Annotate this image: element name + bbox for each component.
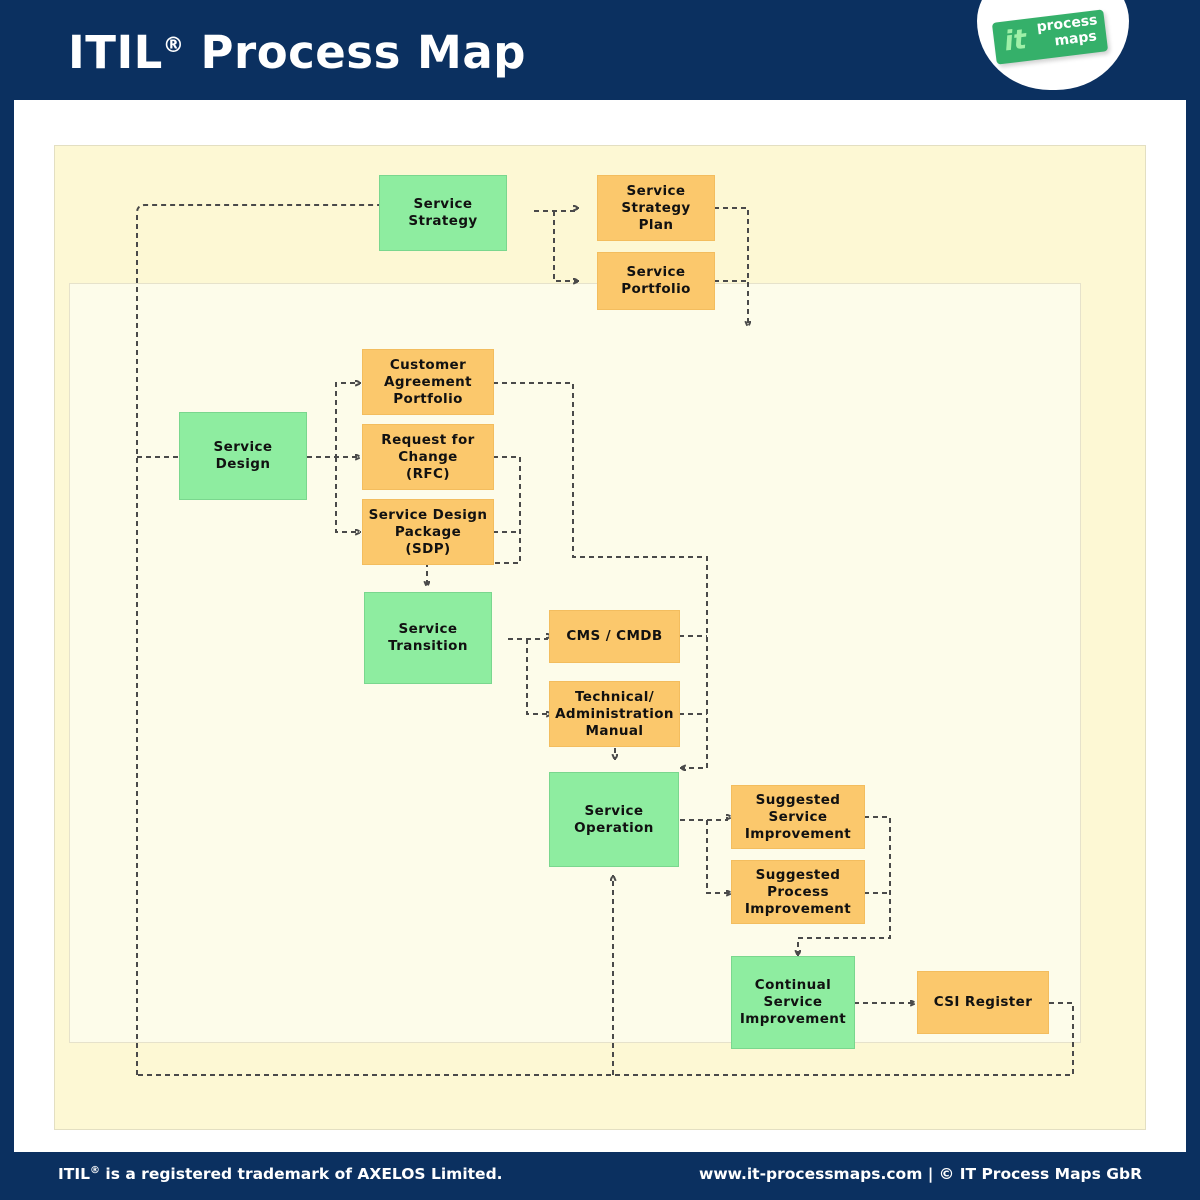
logo-maps-text: maps bbox=[1054, 29, 1098, 49]
registered-trademark-icon: ® bbox=[163, 33, 185, 57]
node-label: ServiceDesign bbox=[214, 439, 273, 473]
service-lifecycle-inner-panel bbox=[69, 283, 1081, 1043]
footer-credit: www.it-processmaps.com | © IT Process Ma… bbox=[699, 1165, 1142, 1183]
page-title-text: ITIL bbox=[68, 26, 163, 79]
node-label: ServiceOperation bbox=[574, 803, 654, 837]
node-continual-service-improvement[interactable]: ContinualServiceImprovement bbox=[731, 956, 855, 1049]
node-label: Service DesignPackage(SDP) bbox=[369, 507, 488, 558]
node-label: CMS / CMDB bbox=[566, 628, 662, 645]
node-csi-register[interactable]: CSI Register bbox=[917, 971, 1049, 1034]
node-label: Request forChange(RFC) bbox=[381, 432, 474, 483]
page-title-rest: Process Map bbox=[184, 26, 526, 79]
page-title: ITIL® Process Map bbox=[68, 26, 526, 79]
node-service-strategy[interactable]: ServiceStrategy bbox=[379, 175, 507, 251]
node-service-strategy-plan[interactable]: ServiceStrategyPlan bbox=[597, 175, 715, 241]
node-service-transition[interactable]: ServiceTransition bbox=[364, 592, 492, 684]
footer-trademark-rest: is a registered trademark of AXELOS Limi… bbox=[100, 1165, 503, 1183]
footer-trademark-notice: ITIL® is a registered trademark of AXELO… bbox=[58, 1165, 503, 1183]
node-request-for-change[interactable]: Request forChange(RFC) bbox=[362, 424, 494, 490]
node-label: SuggestedServiceImprovement bbox=[745, 792, 851, 843]
node-label: ServiceStrategy bbox=[408, 196, 477, 230]
node-suggested-service-improvement[interactable]: SuggestedServiceImprovement bbox=[731, 785, 865, 849]
node-label: SuggestedProcessImprovement bbox=[745, 867, 851, 918]
node-label: CSI Register bbox=[934, 994, 1033, 1011]
node-label: ServiceTransition bbox=[388, 621, 468, 655]
registered-trademark-icon: ® bbox=[90, 1165, 100, 1176]
logo-it-text: it bbox=[1002, 22, 1028, 60]
node-service-design-package[interactable]: Service DesignPackage(SDP) bbox=[362, 499, 494, 565]
node-label: ServicePortfolio bbox=[621, 264, 691, 298]
node-label: Technical/AdministrationManual bbox=[555, 689, 674, 740]
diagram-canvas: ServiceStrategy ServiceDesign ServiceTra… bbox=[14, 100, 1186, 1152]
node-customer-agreement-portfolio[interactable]: CustomerAgreementPortfolio bbox=[362, 349, 494, 415]
node-label: ServiceStrategyPlan bbox=[621, 183, 690, 234]
header-bar: ITIL® Process Map it process maps bbox=[0, 0, 1200, 100]
node-service-design[interactable]: ServiceDesign bbox=[179, 412, 307, 500]
node-label: CustomerAgreementPortfolio bbox=[384, 357, 472, 408]
itil-process-map-page: ITIL® Process Map it process maps bbox=[0, 0, 1200, 1200]
node-service-operation[interactable]: ServiceOperation bbox=[549, 772, 679, 867]
node-suggested-process-improvement[interactable]: SuggestedProcessImprovement bbox=[731, 860, 865, 924]
footer-trademark-prefix: ITIL bbox=[58, 1165, 90, 1183]
logo-plate: it process maps bbox=[992, 9, 1108, 64]
node-service-portfolio[interactable]: ServicePortfolio bbox=[597, 252, 715, 310]
footer-bar: ITIL® is a registered trademark of AXELO… bbox=[0, 1152, 1200, 1200]
node-label: ContinualServiceImprovement bbox=[740, 977, 846, 1028]
node-cms-cmdb[interactable]: CMS / CMDB bbox=[549, 610, 680, 663]
node-technical-administration-manual[interactable]: Technical/AdministrationManual bbox=[549, 681, 680, 747]
it-process-maps-logo[interactable]: it process maps bbox=[977, 0, 1129, 90]
